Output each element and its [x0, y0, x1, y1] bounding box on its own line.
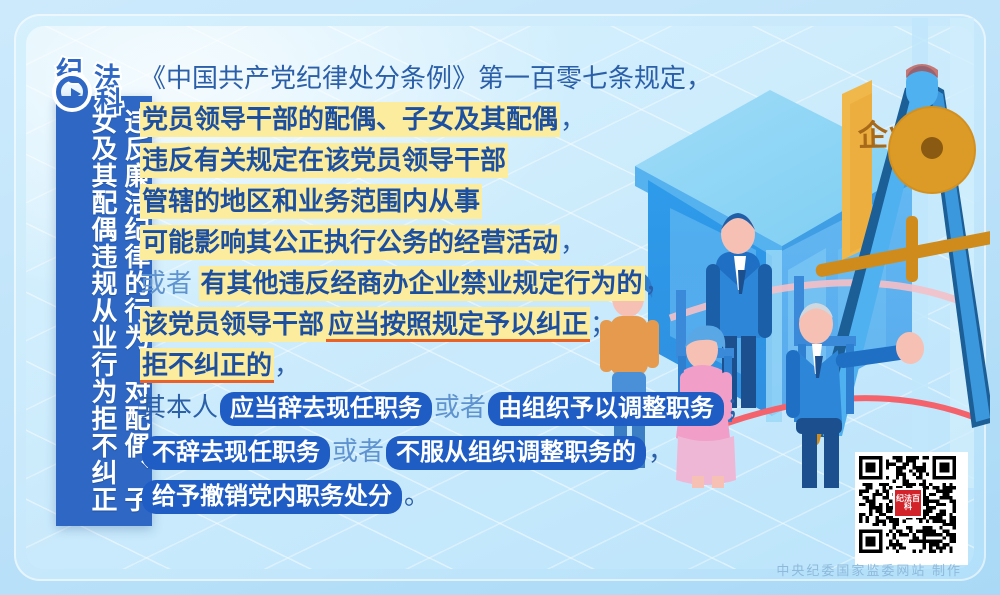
qr-center-logo: 纪法百科 [893, 488, 923, 518]
text-segment-pill: 不辞去现任职务 [142, 436, 330, 470]
text-segment-pill: 应当辞去现任职务 [220, 392, 432, 426]
text-line: 不辞去现任职务或者不服从组织调整职务的， [140, 430, 760, 474]
text-segment-hl: 党员领导干部的配偶、子女及其配偶 [140, 102, 560, 137]
text-segment-punc: ； [726, 393, 752, 422]
text-line: 其本人应当辞去现任职务或者由组织予以调整职务； [140, 386, 760, 430]
consequence-lines: 其本人应当辞去现任职务或者由组织予以调整职务；不辞去现任职务或者不服从组织调整职… [140, 386, 760, 518]
text-line: 该党员领导干部应当按照规定予以纠正； [140, 304, 760, 345]
text-segment-punc: ， [560, 228, 586, 257]
text-line: 管辖的地区和业务范围内从事 [140, 181, 760, 222]
text-line: 《中国共产党纪律处分条例》第一百零七条规定， [140, 58, 760, 99]
text-segment-sep: 或者 [332, 437, 384, 466]
text-line: 党员领导干部的配偶、子女及其配偶， [140, 99, 760, 140]
text-segment-hl: 违反有关规定在该党员领导干部 [140, 143, 508, 178]
footer-credit: 中央纪委国家监委网站 制作 [776, 560, 962, 579]
text-segment-punc: 。 [404, 481, 430, 510]
text-segment-hl-ul: 应当按照规定予以纠正 [326, 307, 590, 342]
text-line: 可能影响其公正执行公务的经营活动， [140, 222, 760, 263]
text-segment-plain: 其本人 [140, 393, 218, 422]
logo-badge[interactable]: 纪 法 科 [52, 50, 158, 112]
text-segment-punc: ， [645, 269, 671, 298]
text-segment-hl: 管辖的地区和业务范围内从事 [140, 184, 482, 219]
vertical-banner-col-2: 女及其配偶违规从业行为拒不纠正 [86, 108, 119, 528]
text-line: 拒不纠正的， [140, 345, 760, 386]
body-text: 《中国共产党纪律处分条例》第一百零七条规定，党员领导干部的配偶、子女及其配偶，违… [140, 58, 760, 518]
poster-root: 企业 [0, 0, 1000, 595]
qr-code[interactable]: 纪法百科 [855, 452, 968, 565]
logo-char-ke: 科 [96, 80, 123, 119]
text-segment-punc: ； [590, 310, 616, 339]
play-circle-icon [56, 76, 88, 108]
text-segment-sep: 或者 [140, 269, 192, 298]
text-segment-hl: 有其他违反经商办企业禁业规定行为的 [199, 266, 645, 301]
qr-logo-text: 纪法百科 [895, 490, 921, 516]
text-segment-hl-part: 该党员领导干部 [140, 307, 326, 342]
statute-lines: 《中国共产党纪律处分条例》第一百零七条规定，党员领导干部的配偶、子女及其配偶，违… [140, 58, 760, 386]
text-line: 给予撤销党内职务处分。 [140, 474, 760, 518]
text-segment-hl: 可能影响其公正执行公务的经营活动 [140, 225, 560, 260]
text-segment-pill: 由组织予以调整职务 [488, 392, 724, 426]
play-triangle-icon [71, 88, 81, 100]
text-segment-punc [192, 269, 199, 298]
text-segment-hl-ul: 拒不纠正的 [140, 348, 274, 383]
text-segment-punc: ， [560, 105, 586, 134]
text-segment-sep: 或者 [434, 393, 486, 422]
text-segment-pill: 不服从组织调整职务的 [386, 436, 646, 470]
vertical-banner-text: 违反廉洁纪律的行为：对配偶、子 女及其配偶违规从业行为拒不纠正 [56, 104, 152, 528]
text-segment-punc: ， [648, 437, 674, 466]
text-line: 或者 有其他违反经商办企业禁业规定行为的， [140, 263, 760, 304]
text-segment-plain: 《中国共产党纪律处分条例》第一百零七条规定， [140, 64, 712, 93]
text-segment-punc: ， [274, 351, 300, 380]
text-segment-pill: 给予撤销党内职务处分 [142, 480, 402, 514]
text-line: 违反有关规定在该党员领导干部 [140, 140, 760, 181]
